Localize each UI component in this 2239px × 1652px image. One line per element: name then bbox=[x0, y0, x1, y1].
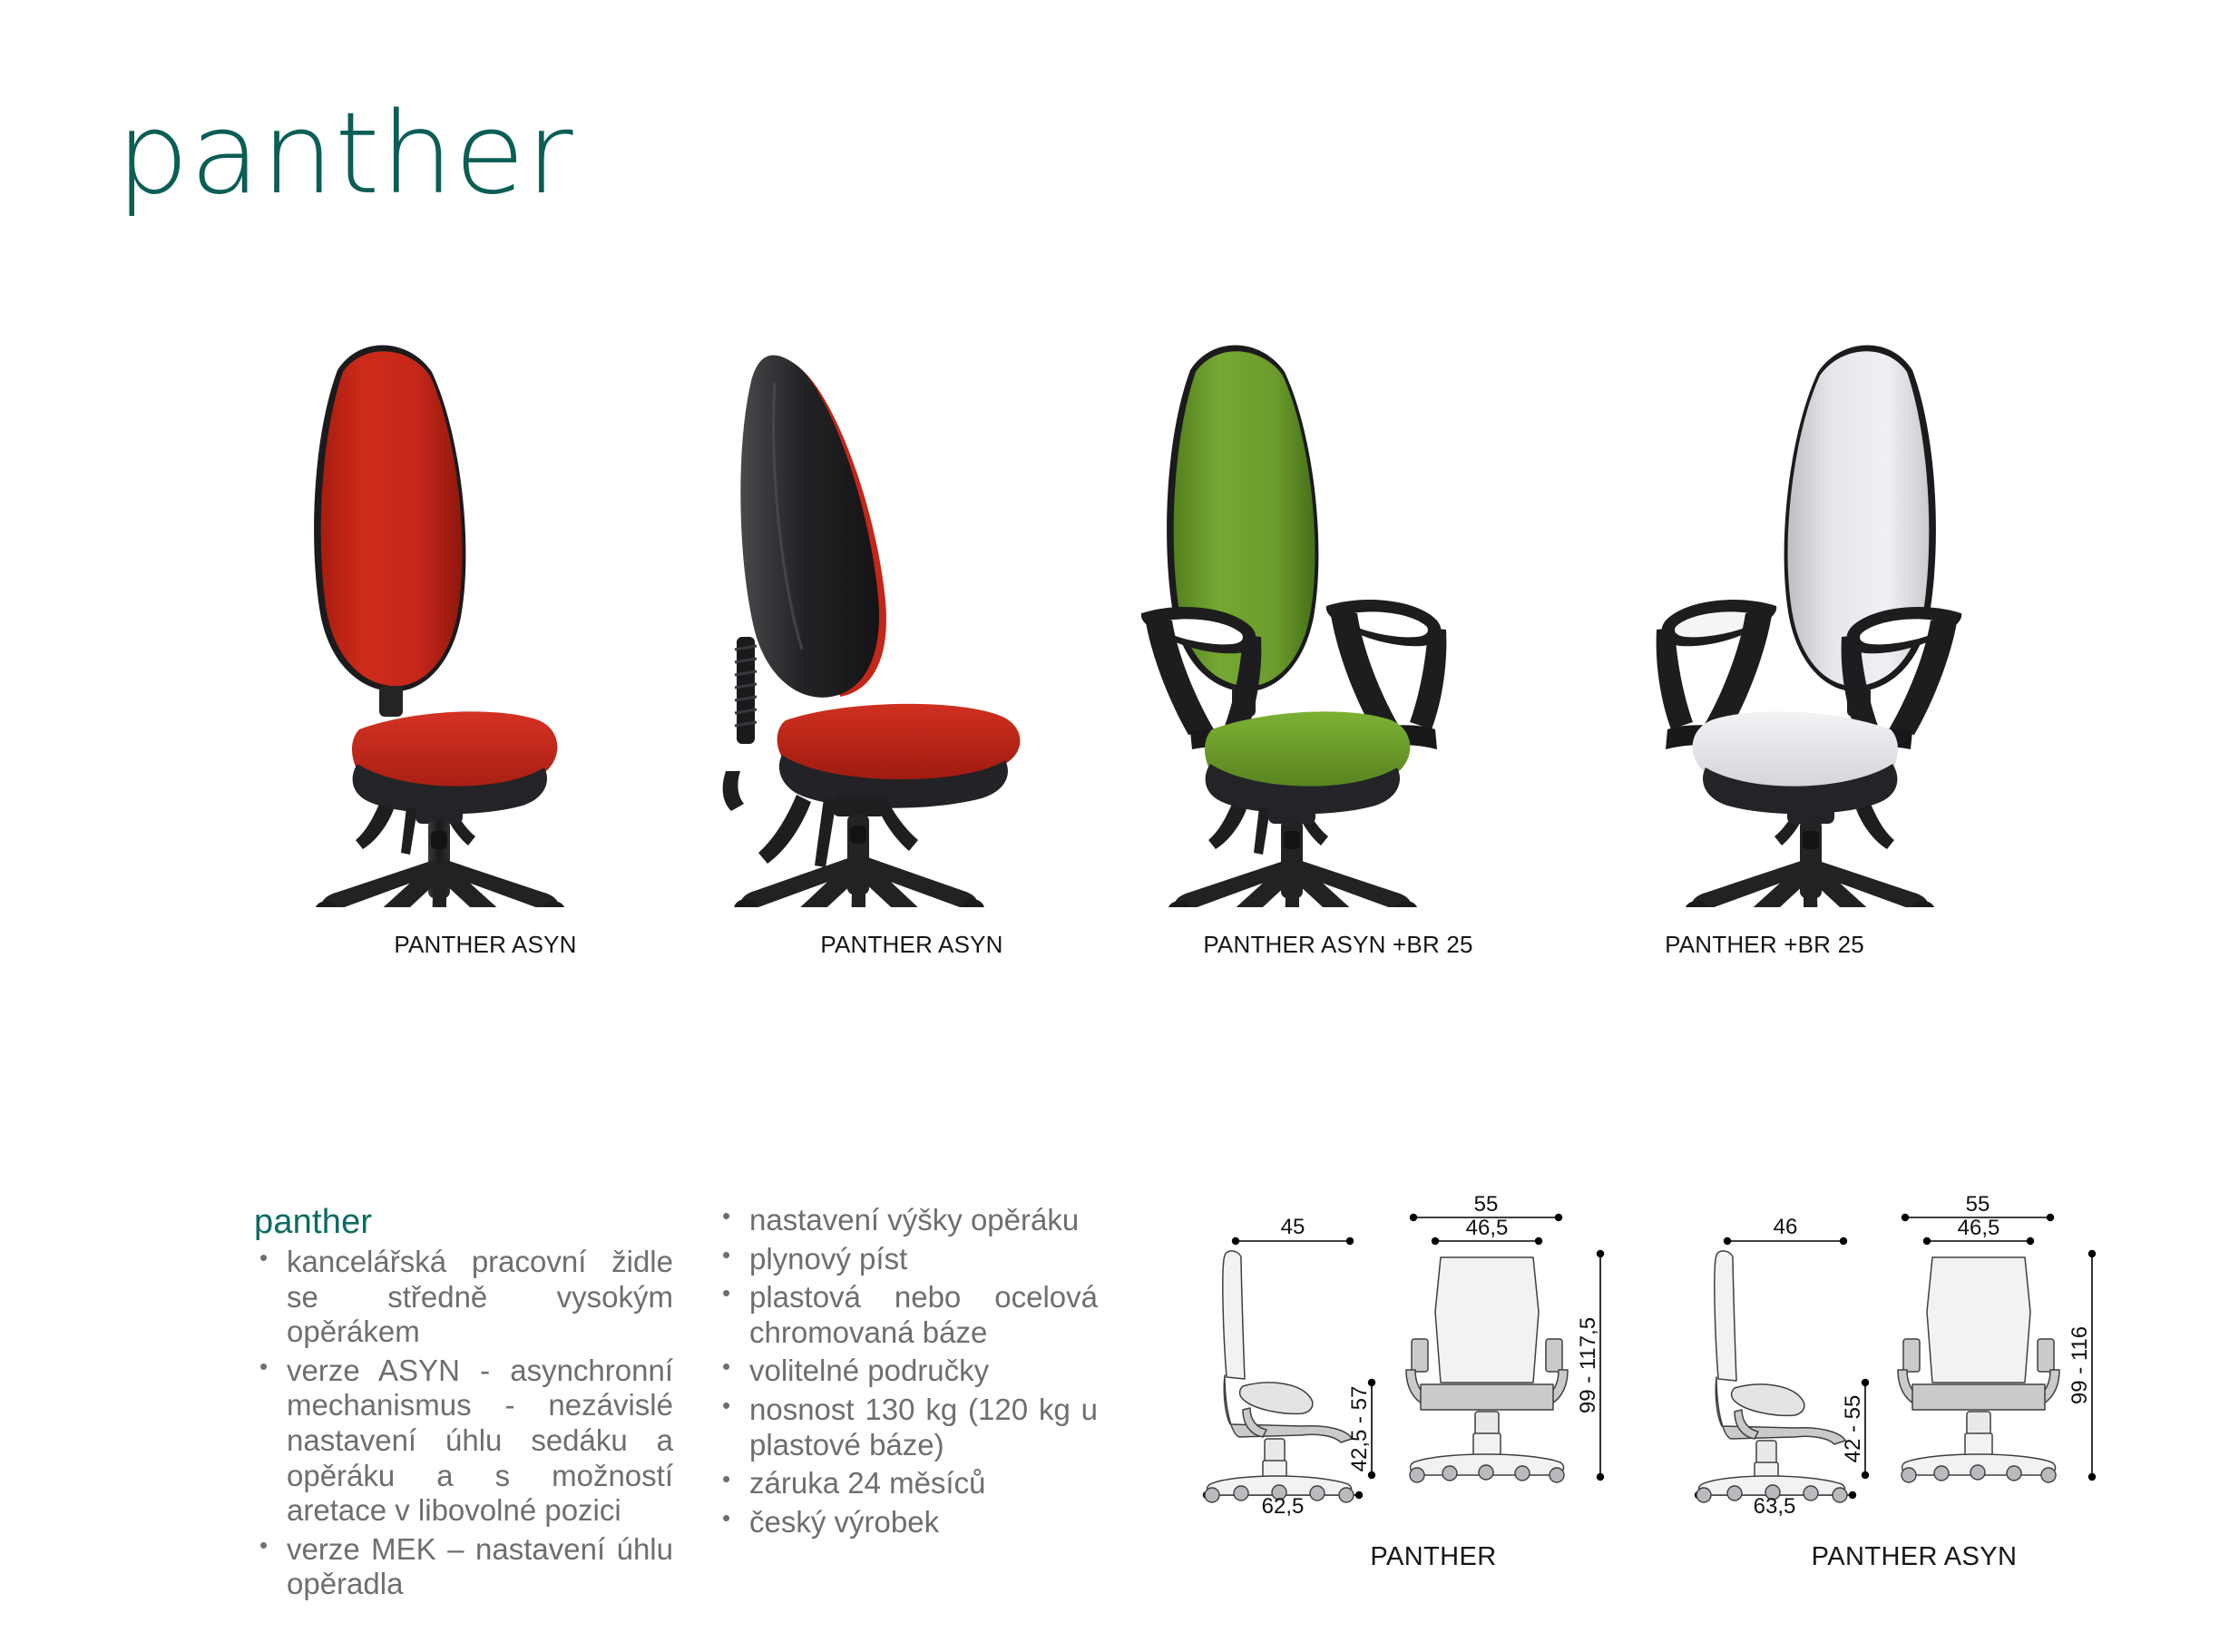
product-card-3[interactable]: PANTHER ASYN +BR 25 bbox=[1125, 345, 1551, 998]
product-card-4[interactable]: PANTHER +BR 25 bbox=[1551, 345, 1978, 998]
chair-image-3 bbox=[1125, 345, 1551, 907]
dim-seat-height: 42,5 - 57 bbox=[1347, 1386, 1372, 1472]
dim-seat-width: 46,5 bbox=[1466, 1216, 1509, 1240]
product-caption-2: PANTHER ASYN bbox=[699, 931, 1125, 959]
list-item: český výrobek bbox=[717, 1505, 1098, 1540]
chair-image-2 bbox=[699, 345, 1125, 907]
drawing-caption-1: PANTHER bbox=[1198, 1542, 1669, 1572]
dim-base-width: 63,5 bbox=[1754, 1494, 1796, 1519]
page-title: panther bbox=[116, 98, 574, 210]
feature-list-left: kancelářská pracovní židle se středně vy… bbox=[254, 1245, 673, 1606]
dim-front-width: 55 bbox=[1474, 1196, 1499, 1217]
dim-side-depth: 45 bbox=[1281, 1215, 1305, 1239]
specification-section: panther kancelářská pracovní židle se st… bbox=[0, 1179, 2239, 1633]
dim-total-height: 99 - 116 bbox=[2068, 1326, 2092, 1404]
product-caption-4: PANTHER +BR 25 bbox=[1551, 931, 1978, 959]
spec-heading: panther bbox=[254, 1203, 372, 1242]
dim-seat-height: 42 - 55 bbox=[1841, 1395, 1865, 1463]
dim-front-width: 55 bbox=[1966, 1196, 1990, 1217]
chair-image-4 bbox=[1551, 345, 1978, 907]
list-item: verze MEK – nastavení úhlu opěradla bbox=[254, 1532, 673, 1602]
technical-drawing-panther: 45 55 46,5 62,5 42,5 - 57 99 - 117,5 PAN… bbox=[1198, 1196, 1669, 1595]
product-gallery: PANTHER ASYN bbox=[272, 345, 2050, 998]
dim-total-height: 99 - 117,5 bbox=[1576, 1317, 1600, 1413]
product-card-1[interactable]: PANTHER ASYN bbox=[272, 345, 699, 998]
list-item: záruka 24 měsíců bbox=[717, 1466, 1098, 1501]
dim-base-width: 62,5 bbox=[1262, 1494, 1305, 1519]
drawing-caption-2: PANTHER ASYN bbox=[1678, 1542, 2150, 1572]
product-caption-1: PANTHER ASYN bbox=[272, 931, 699, 959]
list-item: verze ASYN - asynchronní mechanismus - n… bbox=[254, 1354, 673, 1529]
list-item: kancelářská pracovní židle se středně vy… bbox=[254, 1245, 673, 1350]
product-caption-3: PANTHER ASYN +BR 25 bbox=[1125, 931, 1551, 959]
list-item: nastavení výšky opěráku bbox=[717, 1203, 1098, 1238]
dim-seat-width: 46,5 bbox=[1958, 1216, 2000, 1240]
list-item: plynový píst bbox=[717, 1242, 1098, 1277]
feature-list-right: nastavení výšky opěráku plynový píst pla… bbox=[717, 1203, 1098, 1543]
list-item: nosnost 130 kg (120 kg u plastové báze) bbox=[717, 1393, 1098, 1462]
dim-side-depth: 46 bbox=[1774, 1215, 1798, 1239]
technical-drawing-panther-asyn: 46 55 46,5 63,5 42 - 55 99 - 116 PANTHER… bbox=[1678, 1196, 2150, 1595]
list-item: volitelné područky bbox=[717, 1354, 1098, 1389]
product-card-2[interactable]: PANTHER ASYN bbox=[699, 345, 1125, 998]
chair-image-1 bbox=[272, 345, 699, 907]
list-item: plastová nebo ocelová chromovaná báze bbox=[717, 1280, 1098, 1350]
